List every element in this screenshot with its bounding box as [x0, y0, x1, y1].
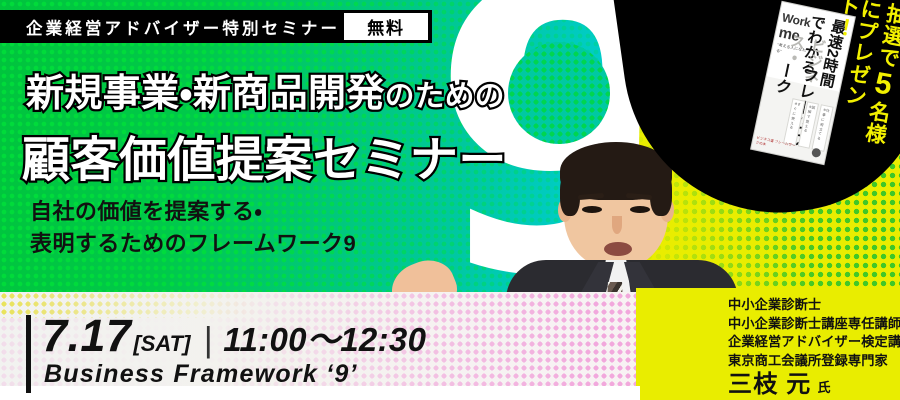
subtitle: 自社の価値を提案する・ 表明するためのフレームワーク9	[30, 196, 356, 260]
title-line-1-main: 新規事業・新商品開発	[26, 73, 385, 115]
title-line-2: 顧客価値提案セミナー	[22, 120, 507, 190]
watermark-nine-counter-dots	[508, 42, 610, 144]
title-line-1: 新規事業・新商品開発のための	[26, 62, 505, 117]
seminar-day-of-week: [SAT]	[133, 331, 190, 357]
free-badge-label: 無料	[367, 14, 404, 39]
speaker-credential-item: 中小企業診断士講座専任講師	[728, 315, 900, 334]
seminar-date: 7.17	[42, 310, 131, 362]
speaker-credentials: 中小企業診断士 中小企業診断士講座専任講師 企業経営アドバイザー検定講師 東京商…	[728, 296, 900, 371]
presenter-mouth	[604, 242, 632, 256]
presenter-hair-side-right	[650, 170, 672, 216]
schedule-separator: |	[203, 321, 212, 360]
presenter-eye-right	[630, 206, 650, 213]
book-publisher-logo-icon	[811, 147, 822, 158]
schedule-line: 7.17 [SAT] | 11:00〜12:30	[42, 310, 426, 362]
seminar-time: 11:00〜12:30	[223, 313, 426, 361]
presenter-nose	[612, 216, 622, 234]
presenter-hair-side-left	[560, 172, 580, 216]
speaker-credential-item: 中小企業診断士	[728, 296, 900, 315]
title-line-1-tail: のための	[385, 80, 505, 113]
speaker-credential-item: 企業経営アドバイザー検定講師	[728, 333, 900, 352]
speaker-name-suffix: 氏	[817, 380, 830, 395]
header-label: 企業経営アドバイザー特別セミナー	[26, 15, 340, 39]
header-bar: 企業経営アドバイザー特別セミナー 無料	[0, 10, 432, 43]
free-badge: 無料	[344, 13, 428, 40]
presenter-eye-left	[582, 206, 602, 213]
date-accent-rule	[26, 315, 31, 393]
speaker-name: 三枝 元氏	[728, 364, 830, 399]
speaker-name-text: 三枝 元	[728, 371, 811, 398]
program-name: Business Framework ‘9’	[44, 360, 358, 389]
seminar-banner: 9 Work me	[0, 0, 900, 400]
